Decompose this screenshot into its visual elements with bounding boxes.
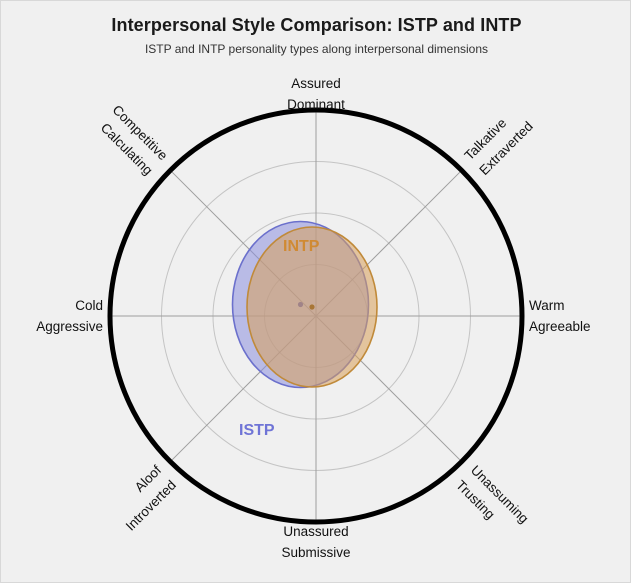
page-subtitle: ISTP and INTP personality types along in…	[1, 42, 631, 56]
axis-label-lm-line2: Agreeable	[529, 319, 591, 334]
axis-label-de-line1: Cold	[75, 298, 103, 313]
axis-label-pa-line2: Dominant	[287, 97, 345, 112]
axis-label-hi-line1: Unassured	[283, 524, 348, 539]
axis-label-lm-line1: Warm	[529, 298, 565, 313]
series-label-istp: ISTP	[239, 422, 275, 439]
radar-chart-figure: Interpersonal Style Comparison: ISTP and…	[0, 0, 631, 583]
axis-label-hi-line2: Submissive	[281, 545, 350, 560]
plot-area: INTP ISTP Assured Dominant Unassured Sub…	[1, 61, 631, 584]
axis-label-de-line2: Aggressive	[36, 319, 103, 334]
axis-label-pa-line1: Assured	[291, 76, 341, 91]
series-label-intp: INTP	[283, 238, 320, 255]
page-title: Interpersonal Style Comparison: ISTP and…	[1, 15, 631, 36]
